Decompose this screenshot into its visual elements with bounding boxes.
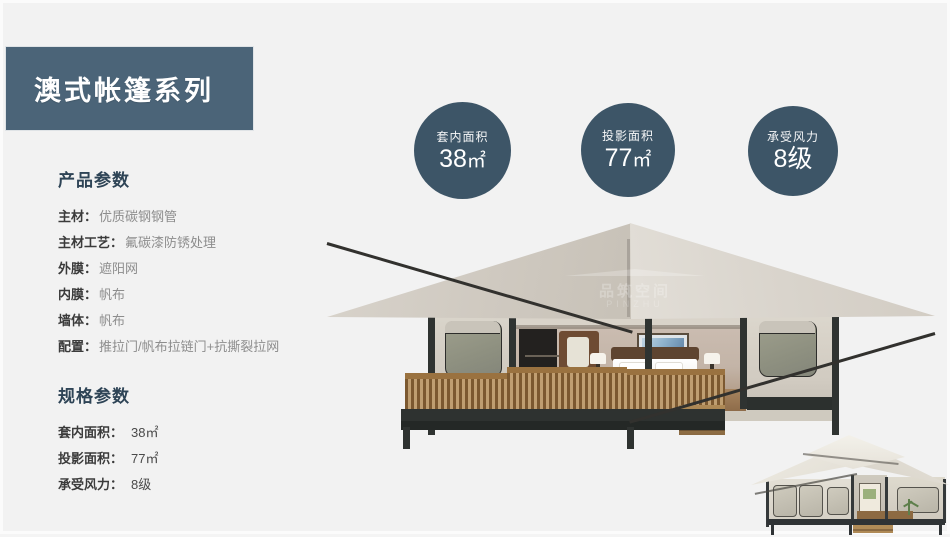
stat-value: 8级	[774, 146, 813, 174]
brand-watermark: 品筑空间 PINZHU	[555, 247, 715, 317]
spec-label: 投影面积：	[58, 451, 123, 466]
wall-skirt-right	[747, 397, 833, 410]
inset-post	[851, 475, 854, 525]
spec-label: 墙体：	[58, 313, 97, 328]
stat-badge-wind-resistance: 承受风力 8级	[748, 106, 838, 196]
inset-leg	[849, 523, 852, 535]
stat-label: 承受风力	[767, 128, 819, 145]
spec-label: 外膜：	[58, 261, 97, 276]
watermark-roof-icon	[565, 269, 705, 276]
inset-post	[885, 477, 888, 523]
spec-label: 套内面积：	[58, 425, 123, 440]
watermark-text-en: PINZHU	[555, 299, 715, 309]
deck-base-shadow	[401, 421, 725, 430]
door-mirror	[567, 337, 589, 367]
spec-panel: 产品参数 主材：优质碳钢钢管 主材工艺：氟碳漆防锈处理 外膜：遮阳网 内膜：帆布…	[58, 166, 348, 498]
dimension-spec-heading: 规格参数	[58, 382, 348, 407]
stat-badge-interior-area: 套内面积 38㎡	[414, 102, 511, 199]
inset-leg	[939, 523, 942, 535]
spec-row: 外膜：遮阳网	[58, 256, 348, 282]
spec-row: 承受风力：8级	[58, 472, 348, 498]
spec-row: 投影面积：77㎡	[58, 446, 348, 472]
spec-row: 套内面积：38㎡	[58, 420, 348, 446]
title-banner: 澳式帐篷系列	[6, 47, 253, 130]
table-lamp-left	[590, 353, 606, 367]
stat-label: 套内面积	[436, 128, 488, 145]
inset-base	[767, 519, 945, 525]
spec-row: 主材：优质碳钢钢管	[58, 204, 348, 230]
watermark-text-cn: 品筑空间	[555, 280, 715, 301]
spec-value: 帆布	[99, 287, 125, 302]
spec-value: 遮阳网	[99, 261, 138, 276]
table-lamp-right	[704, 353, 720, 367]
deck-railing	[507, 367, 627, 415]
spec-value: 帆布	[99, 313, 125, 328]
stat-badge-projected-area: 投影面积 77㎡	[581, 103, 675, 197]
product-spec-heading: 产品参数	[58, 166, 348, 191]
spec-label: 主材工艺：	[58, 235, 123, 250]
spec-value: 8级	[131, 477, 151, 492]
spec-value: 优质碳钢钢管	[99, 209, 177, 224]
inset-leg	[771, 523, 774, 535]
spec-row: 墙体：帆布	[58, 308, 348, 334]
tent-roof: 品筑空间 PINZHU	[327, 223, 935, 333]
dimension-spec-group: 规格参数 套内面积：38㎡ 投影面积：77㎡ 承受风力：8级	[58, 382, 348, 498]
inset-tent-illustration	[745, 427, 950, 537]
deck-leg	[627, 427, 634, 449]
inset-window	[827, 487, 849, 515]
stat-label: 投影面积	[602, 127, 654, 144]
deck-leg	[403, 427, 410, 449]
spec-value: 38㎡	[131, 425, 158, 440]
spec-label: 承受风力：	[58, 477, 123, 492]
spec-row: 主材工艺：氟碳漆防锈处理	[58, 230, 348, 256]
inset-post	[943, 479, 946, 523]
inset-window	[897, 487, 939, 513]
stat-value: 38㎡	[439, 146, 486, 174]
inset-window	[799, 485, 823, 517]
spec-label: 内膜：	[58, 287, 97, 302]
main-tent-illustration: 品筑空间 PINZHU	[327, 209, 935, 449]
spec-label: 配置：	[58, 339, 97, 354]
spec-value: 氟碳漆防锈处理	[125, 235, 216, 250]
spec-label: 主材：	[58, 209, 97, 224]
spec-row: 配置：推拉门/帆布拉链门+抗撕裂拉网	[58, 334, 348, 360]
stat-value: 77㎡	[605, 145, 652, 173]
spec-value: 推拉门/帆布拉链门+抗撕裂拉网	[99, 339, 279, 354]
page-title: 澳式帐篷系列	[34, 69, 214, 108]
product-spec-group: 产品参数 主材：优质碳钢钢管 主材工艺：氟碳漆防锈处理 外膜：遮阳网 内膜：帆布…	[58, 166, 348, 360]
spec-value: 77㎡	[131, 451, 158, 466]
spec-row: 内膜：帆布	[58, 282, 348, 308]
slide-page: 澳式帐篷系列 产品参数 主材：优质碳钢钢管 主材工艺：氟碳漆防锈处理 外膜：遮阳…	[0, 0, 950, 534]
